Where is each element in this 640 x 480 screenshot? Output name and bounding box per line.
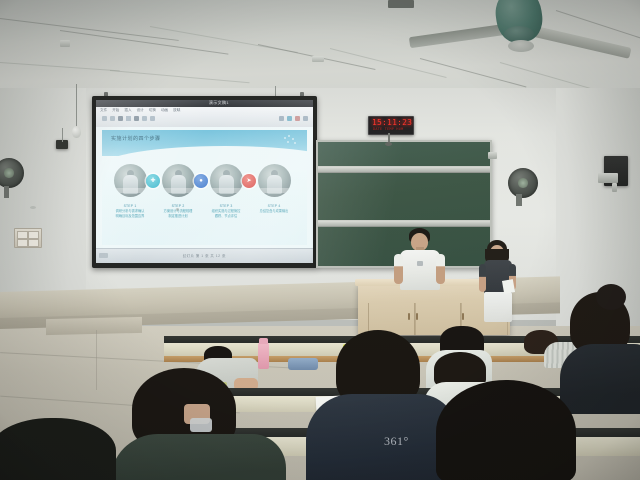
step-caption-1: STEP 1 调研分析与需求确认 明确目标及范围边界 xyxy=(108,204,152,218)
ceiling-fixture xyxy=(388,0,414,8)
ribbon-tab[interactable]: 插入 xyxy=(124,108,131,113)
ribbon-toolbar-right[interactable] xyxy=(279,116,308,121)
podium-handle[interactable] xyxy=(408,313,410,320)
connector-glyph: ✚ xyxy=(150,178,155,184)
clock-time: 15:11:23 xyxy=(372,118,412,127)
step-line: 总结复盘与成果输出 xyxy=(252,209,296,213)
bold-icon[interactable] xyxy=(102,116,107,121)
student-front-right xyxy=(426,380,586,480)
pendant-light-icon xyxy=(72,126,81,138)
camera-wire xyxy=(62,128,63,142)
status-chip xyxy=(99,253,108,258)
presentation-app-titlebar: 演示文稿1 xyxy=(96,100,313,107)
led-wall-clock: 15:11:23 DATE TEMP HUM xyxy=(368,116,414,135)
bullet-list-icon[interactable] xyxy=(142,116,147,121)
assistant-arm xyxy=(479,264,486,292)
step-connector-2: ● xyxy=(194,174,208,188)
step-heading: STEP 1 xyxy=(108,204,152,208)
hanging-wire xyxy=(76,84,77,128)
wall-fan-right xyxy=(508,168,538,198)
wall-fan-right-arm xyxy=(516,194,522,206)
step-connector-1: ✚ xyxy=(146,174,160,188)
find-icon[interactable] xyxy=(279,116,284,121)
connector-glyph: ● xyxy=(199,178,203,184)
replace-icon[interactable] xyxy=(287,116,292,121)
clock-sub-label: DATE TEMP HUM xyxy=(373,127,403,131)
ribbon-toolbar-left[interactable] xyxy=(102,116,155,121)
student-ponytail xyxy=(596,284,626,310)
slide-status-text: 幻灯片 第 1 张 共 12 张 xyxy=(183,253,226,258)
clock-mount xyxy=(385,142,392,146)
step-photo-1 xyxy=(114,164,147,197)
presentation-app-title: 演示文稿1 xyxy=(209,100,229,106)
student-hair xyxy=(436,380,576,480)
ribbon-tab-list[interactable]: 文件 开始 插入 设计 切换 动画 放映 xyxy=(100,108,180,113)
slide-decoration-icon xyxy=(283,135,299,147)
presentation-ribbon: 文件 开始 插入 设计 切换 动画 放映 xyxy=(96,107,313,128)
underline-icon[interactable] xyxy=(118,116,123,121)
step-caption-3: STEP 3 组织实施与过程管控 跟踪、节点评估 xyxy=(204,204,248,218)
pink-bottle-cap xyxy=(259,338,268,344)
podium-handle[interactable] xyxy=(462,313,464,320)
presenter-shirt-graphic xyxy=(417,261,423,266)
step-heading: STEP 4 xyxy=(252,204,296,208)
shirt-logo-text: 361° xyxy=(384,434,409,449)
classroom-photo: 演示文稿1 文件 开始 插入 设计 切换 动画 放映 xyxy=(0,0,640,480)
ribbon-tab[interactable]: 动画 xyxy=(161,108,168,113)
help-icon[interactable] xyxy=(303,116,308,121)
wall-bracket xyxy=(488,152,497,159)
floor-seam xyxy=(96,330,97,390)
student-hair xyxy=(0,418,116,480)
presenter-arm xyxy=(394,254,403,284)
step-photo-4 xyxy=(258,164,291,197)
wall-mark xyxy=(30,206,36,209)
shape-icon[interactable] xyxy=(150,116,155,121)
step-photo-3 xyxy=(210,164,243,197)
ribbon-tab[interactable]: 设计 xyxy=(137,108,144,113)
connector-glyph: ➤ xyxy=(246,178,251,184)
step-photo-2 xyxy=(162,164,195,197)
speaker-bracket-arm xyxy=(612,183,617,192)
step-line: 跟踪、节点评估 xyxy=(204,214,248,218)
podium-handle[interactable] xyxy=(416,313,418,320)
stage-step xyxy=(46,317,142,335)
left-wall xyxy=(0,88,86,320)
align-icon[interactable] xyxy=(134,116,139,121)
slide-banner xyxy=(102,130,307,156)
slide-1: 实施计划的四个步骤 ✚ xyxy=(102,130,307,245)
assistant-standing xyxy=(478,240,522,334)
step-line: 明确目标及范围边界 xyxy=(108,214,152,218)
font-color-icon[interactable] xyxy=(126,116,131,121)
assistant-skirt xyxy=(484,292,512,322)
ceiling-vent-icon xyxy=(508,40,534,52)
student-front-left xyxy=(110,368,278,480)
presentation-status-bar: 幻灯片 第 1 张 共 12 张 xyxy=(96,248,313,263)
slide-step-graphics: ✚ ● ➤ xyxy=(108,164,301,202)
ribbon-tab[interactable]: 文件 xyxy=(100,108,107,113)
slide-canvas[interactable]: 实施计划的四个步骤 ✚ xyxy=(96,127,313,249)
ceiling-fixture xyxy=(60,40,70,47)
ribbon-tab[interactable]: 开始 xyxy=(112,108,119,113)
speaker-bracket xyxy=(598,173,618,183)
ceiling-fan xyxy=(408,0,640,72)
step-line: 制定推进计划 xyxy=(156,214,200,218)
select-icon[interactable] xyxy=(295,116,300,121)
student-front-far-left xyxy=(0,418,120,480)
ribbon-tab[interactable]: 切换 xyxy=(149,108,156,113)
presenter-standing xyxy=(392,228,450,290)
student-torso xyxy=(110,434,286,480)
face-mask-icon xyxy=(190,418,212,432)
step-caption-4: STEP 4 总结复盘与成果输出 xyxy=(252,204,296,214)
ceiling-fixture xyxy=(312,56,324,62)
wall-mark xyxy=(176,208,179,211)
wall-fan-left-arm xyxy=(4,186,9,198)
italic-icon[interactable] xyxy=(110,116,115,121)
presenter-torso xyxy=(400,250,440,290)
step-connector-3: ➤ xyxy=(242,174,256,188)
presenter-arm xyxy=(436,254,445,284)
slide-title: 实施计划的四个步骤 xyxy=(111,135,161,142)
step-heading: STEP 3 xyxy=(204,204,248,208)
light-switch-panel[interactable] xyxy=(14,228,42,248)
ribbon-tab[interactable]: 放映 xyxy=(173,108,180,113)
assistant-paper xyxy=(502,279,515,294)
projection-screen: 演示文稿1 文件 开始 插入 设计 切换 动画 放映 xyxy=(92,96,317,268)
slide-step-captions: STEP 1 调研分析与需求确认 明确目标及范围边界 STEP 2 方案设计与流… xyxy=(108,204,301,238)
projection-screen-image: 演示文稿1 文件 开始 插入 设计 切换 动画 放映 xyxy=(96,100,313,263)
